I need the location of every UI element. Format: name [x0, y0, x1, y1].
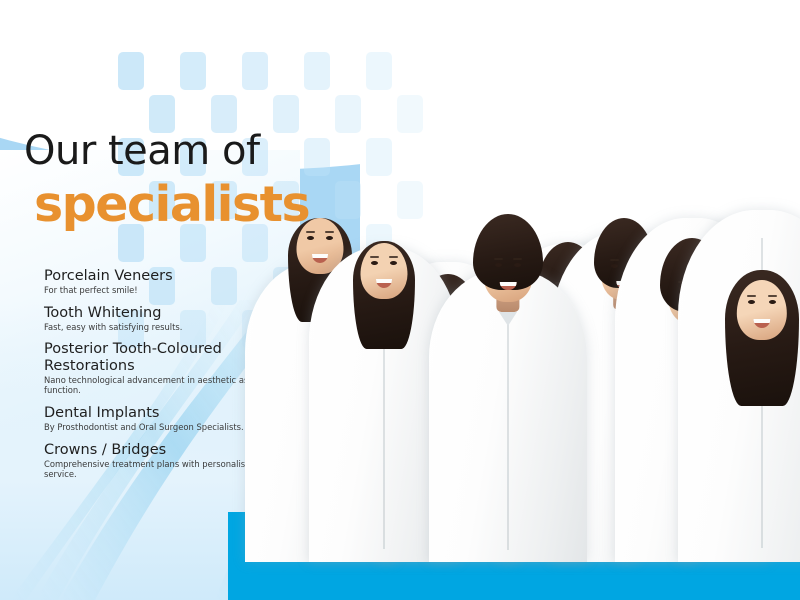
eye	[769, 300, 776, 304]
teeth	[500, 282, 517, 286]
eyebrow	[747, 295, 756, 297]
dental-clinic-banner: Our team of specialists Porcelain Veneer…	[0, 0, 800, 600]
team-photo	[252, 40, 800, 562]
teeth	[753, 319, 770, 323]
team-member	[678, 0, 800, 562]
headline-line-1: Our team of	[24, 128, 260, 174]
eyebrow	[494, 258, 503, 260]
decorative-tile	[118, 52, 144, 90]
eyebrow	[513, 258, 522, 260]
face	[360, 243, 407, 299]
coat-collar	[499, 312, 517, 326]
decorative-tile	[180, 52, 206, 90]
eyebrow	[768, 295, 777, 297]
hair	[473, 214, 543, 290]
face	[737, 280, 787, 340]
teeth	[376, 279, 392, 283]
team-member	[429, 140, 587, 562]
